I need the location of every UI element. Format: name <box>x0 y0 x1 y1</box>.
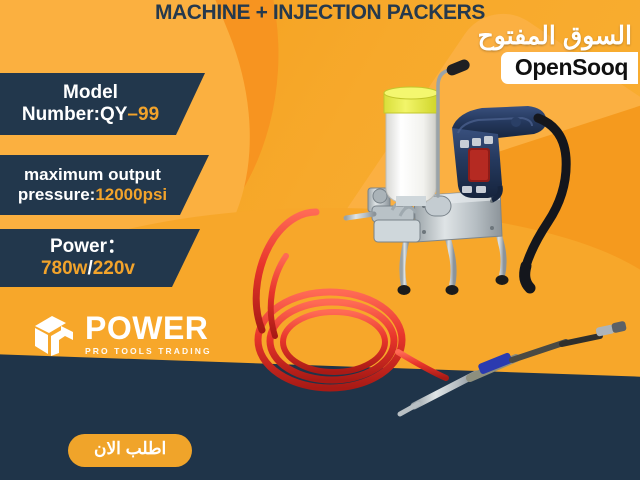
order-now-label: اطلب الان <box>94 440 166 459</box>
brand-logo: POWER PRO TOOLS TRADING <box>32 312 212 358</box>
watermark-box: OpenSooq <box>501 52 638 84</box>
brand-tagline: PRO TOOLS TRADING <box>85 346 212 356</box>
advertisement-banner: MACHINE + INJECTION PACKERS <box>0 0 640 480</box>
spec-badge-model-number: Model Number:QY–99 <box>0 73 205 135</box>
spec-value-volts: 220v <box>93 258 135 279</box>
spec-value: 99 <box>138 104 159 125</box>
spec-line-2: Number:QY–99 <box>22 104 183 126</box>
spec-badge-max-pressure: maximum output pressure:12000psi <box>0 155 209 215</box>
spec-separator: – <box>127 104 138 125</box>
spec-value-watts: 780w <box>41 258 87 279</box>
spec-label: Number:QY <box>22 104 128 125</box>
spec-line-1: maximum output <box>24 165 185 185</box>
brand-text: POWER PRO TOOLS TRADING <box>85 314 212 355</box>
spec-line-2: 780w/220v <box>41 258 159 280</box>
order-now-button[interactable]: اطلب الان <box>68 434 192 467</box>
watermark-arabic: السوق المفتوح <box>478 24 638 49</box>
watermark: السوق المفتوح OpenSooq <box>478 24 638 84</box>
spec-line-1: Power： <box>50 236 150 258</box>
spec-badge-power: Power： 780w/220v <box>0 229 200 287</box>
spec-line-1: Model <box>63 82 142 104</box>
cube-logo-icon <box>32 312 76 358</box>
brand-name: POWER <box>85 314 212 343</box>
spec-line-2: pressure:12000psi <box>18 185 191 205</box>
watermark-latin: OpenSooq <box>515 54 628 80</box>
spec-value: 12000psi <box>95 185 167 204</box>
spec-label: pressure: <box>18 185 95 204</box>
